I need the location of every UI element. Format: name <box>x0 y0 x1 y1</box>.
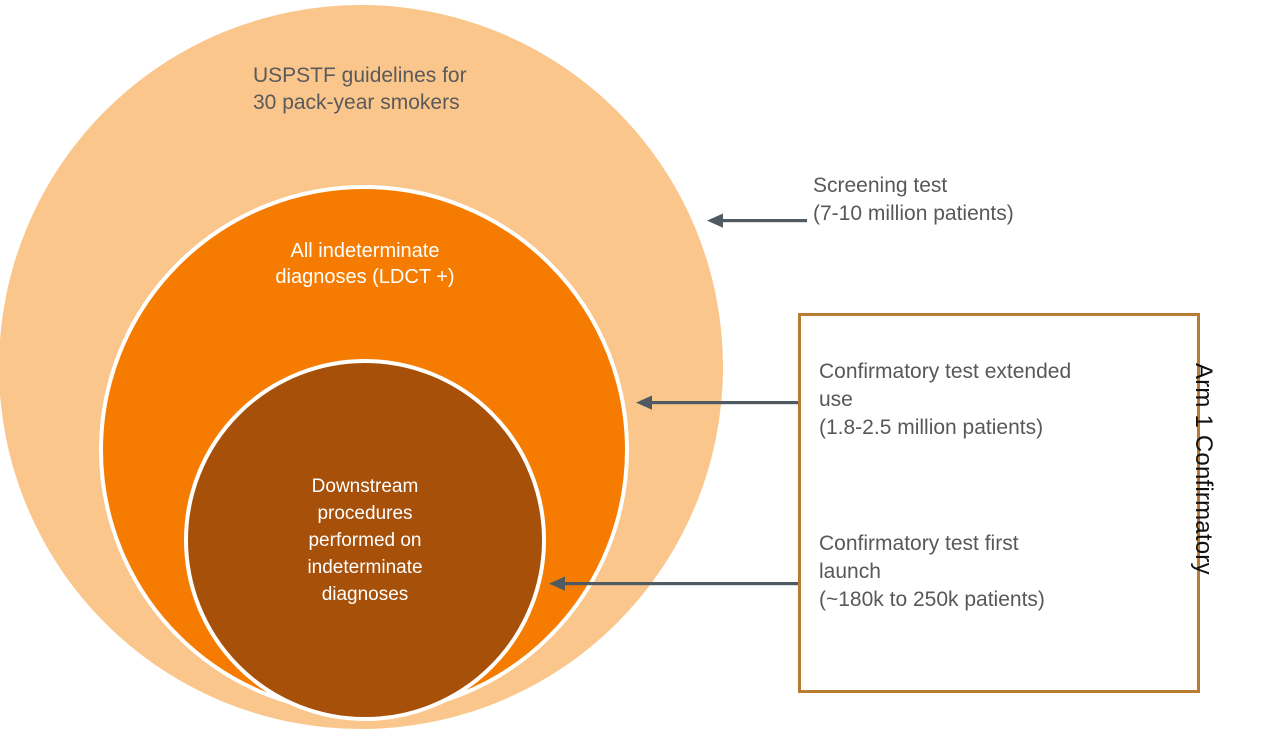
circle-label-indeterminate-diagnoses: All indeterminate diagnoses (LDCT +) <box>150 238 580 290</box>
arm-label-vertical: Arm 1 Confirmatory <box>1189 363 1217 575</box>
circle-label-downstream-procedures: Downstream procedures performed on indet… <box>215 474 515 609</box>
callout-confirmatory-extended-use: Confirmatory test extended use (1.8-2.5 … <box>819 358 1189 442</box>
circle-label-uspstf-population: USPSTF guidelines for 30 pack-year smoke… <box>150 62 580 117</box>
diagram-canvas: USPSTF guidelines for 30 pack-year smoke… <box>0 0 1265 727</box>
concentric-circle-group: USPSTF guidelines for 30 pack-year smoke… <box>0 0 740 727</box>
callout-screening-test: Screening test (7-10 million patients) <box>813 172 1143 228</box>
callout-confirmatory-first-launch: Confirmatory test first launch (~180k to… <box>819 530 1189 614</box>
confirmatory-callout-box: Confirmatory test extended use (1.8-2.5 … <box>798 313 1200 693</box>
